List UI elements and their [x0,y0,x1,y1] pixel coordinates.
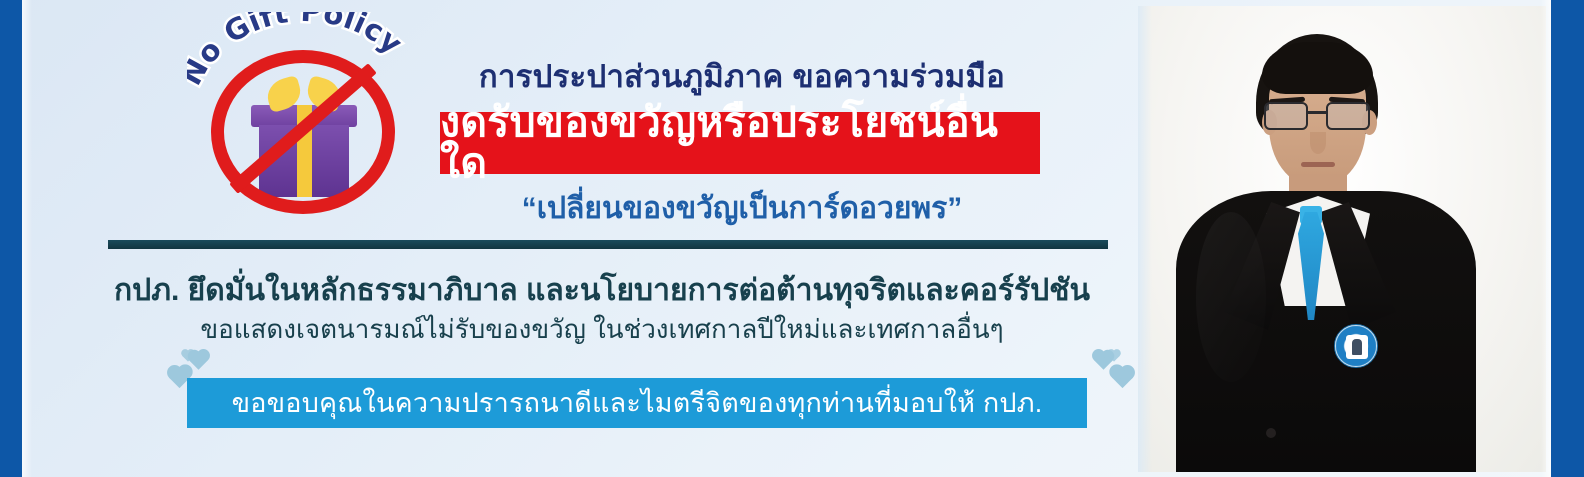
portrait-nose [1310,132,1326,154]
executive-portrait-photo [1138,6,1546,472]
pin-emblem-figure [1352,339,1362,355]
statement-no-gift-intention: ขอแสดงเจตนารมณ์ไม่รับของขวัญ ในช่วงเทศกา… [72,313,1132,346]
no-gift-policy-logo: No Gift Policy [187,12,417,217]
right-edge-sheen [1541,0,1551,477]
banner-content-column: No Gift Policy การประปาส่วนภูมิภาค ขอควา… [32,0,1130,477]
red-banner-refuse-gifts: งดรับของขวัญหรือประโยชน์อื่นใด [440,112,1040,174]
left-edge-sheen [22,0,32,477]
pwa-logo-lapel-pin-icon [1334,324,1378,368]
red-banner-label: งดรับของขวัญหรือประโยชน์อื่นใด [440,102,1040,184]
portrait-eyeglasses-icon [1262,102,1374,130]
horizontal-divider [108,240,1108,249]
right-blue-edge-bar [1551,0,1584,477]
arc-text-label: No Gift Policy [187,12,409,91]
thanks-blue-bar: ขอขอบคุณในความปรารถนาดีและไมตรีจิตของทุก… [187,378,1087,428]
eyeglass-bridge [1308,111,1326,114]
left-blue-edge-bar [0,0,22,477]
quote-change-gift-to-card: “เปลี่ยนของขวัญเป็นการ์ดอวยพร” [422,190,1062,228]
portrait-left-sheen [1138,6,1152,472]
statement-good-governance: กปภ. ยึดมั่นในหลักธรรมาภิบาล และนโยบายกา… [72,272,1132,310]
portrait-mouth [1301,162,1335,167]
no-gift-policy-arc-text-icon: No Gift Policy [187,12,417,102]
thanks-bar-label: ขอขอบคุณในความปรารถนาดีและไมตรีจิตของทุก… [232,390,1043,417]
eyeglass-lens-right [1326,102,1370,130]
heading-cooperation-request: การประปาส่วนภูมิภาค ขอความร่วมมือ [422,58,1062,97]
portrait-jacket-button [1266,428,1276,438]
portrait-hair-fringe [1262,42,1373,94]
eyeglass-lens-left [1264,102,1308,130]
no-gift-policy-banner: No Gift Policy การประปาส่วนภูมิภาค ขอควา… [0,0,1584,477]
